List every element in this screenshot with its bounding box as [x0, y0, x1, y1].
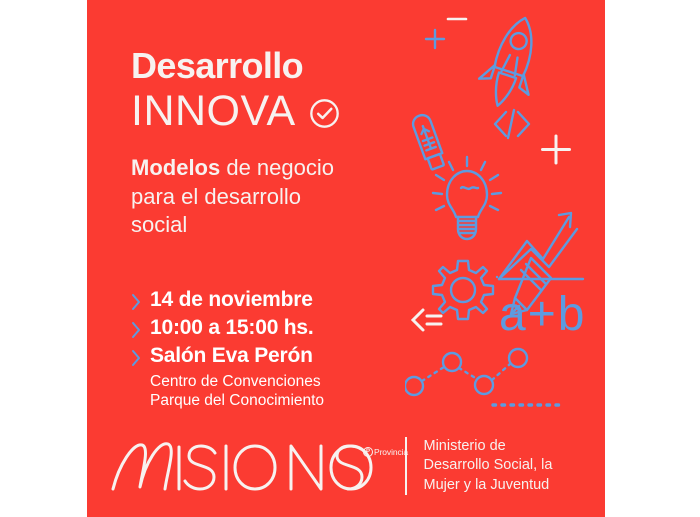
subtitle-rest-line1: de negocio [220, 155, 334, 180]
growth-chart-icon [497, 213, 583, 279]
title-line-1: Desarrollo [131, 48, 303, 84]
detail-time: 10:00 a 15:00 hs. [150, 316, 314, 340]
chevron-right-icon [131, 291, 141, 313]
chevron-right-icon [131, 319, 141, 341]
detail-row-date: 14 de noviembre [131, 288, 411, 313]
plus-icon-white [543, 136, 570, 163]
detail-date: 14 de noviembre [150, 288, 313, 312]
poster-canvas: a+b Desarrollo [0, 0, 700, 517]
misiones-wordmark [109, 435, 399, 497]
venue-address-line2: Parque del Conocimiento [150, 392, 324, 409]
brand-superscript: P Provincia [363, 447, 408, 457]
decor-icons-svg: a+b [405, 0, 605, 430]
lightbulb-icon [433, 157, 501, 239]
poster-subtitle: Modelos de negocio para el desarrollo so… [131, 154, 401, 240]
poster-panel: a+b Desarrollo [87, 0, 605, 517]
code-brackets-icon [495, 110, 529, 138]
gear-icon [433, 261, 493, 319]
footer-divider [405, 437, 407, 495]
venue-address: Centro de Convenciones Parque del Conoci… [150, 372, 411, 411]
ministry-line-1: Ministerio de [424, 438, 506, 454]
title-line-2-row: INNOVA [131, 90, 340, 133]
ministry-line-2: Desarrollo Social, la [424, 457, 553, 473]
decorative-icon-field: a+b [405, 0, 605, 430]
provincia-mark: P [363, 447, 373, 457]
detail-venue: Salón Eva Perón [150, 344, 313, 368]
rocket-icon [473, 10, 551, 114]
misiones-logo: P Provincia [109, 435, 399, 497]
subtitle-line3: social [131, 212, 187, 237]
detail-row-venue: Salón Eva Perón [131, 344, 411, 369]
provincia-label: Provincia [374, 447, 408, 457]
ministry-name: Ministerio de Desarrollo Social, la Muje… [424, 437, 553, 495]
subtitle-bold: Modelos [131, 155, 220, 180]
title-line-2: INNOVA [131, 90, 296, 133]
formula-a-plus-b-icon: a+b [499, 288, 586, 341]
venue-address-line1: Centro de Convenciones [150, 373, 321, 390]
check-circle-icon [309, 98, 340, 129]
poster-footer: P Provincia Ministerio de Desarrollo Soc… [109, 429, 587, 503]
event-details-list: 14 de noviembre 10:00 a 15:00 hs. Salón … [131, 288, 411, 411]
detail-row-time: 10:00 a 15:00 hs. [131, 316, 411, 341]
subtitle-line2: para el desarrollo [131, 184, 301, 209]
ministry-line-3: Mujer y la Juventud [424, 477, 550, 493]
chevron-right-icon [131, 347, 141, 369]
